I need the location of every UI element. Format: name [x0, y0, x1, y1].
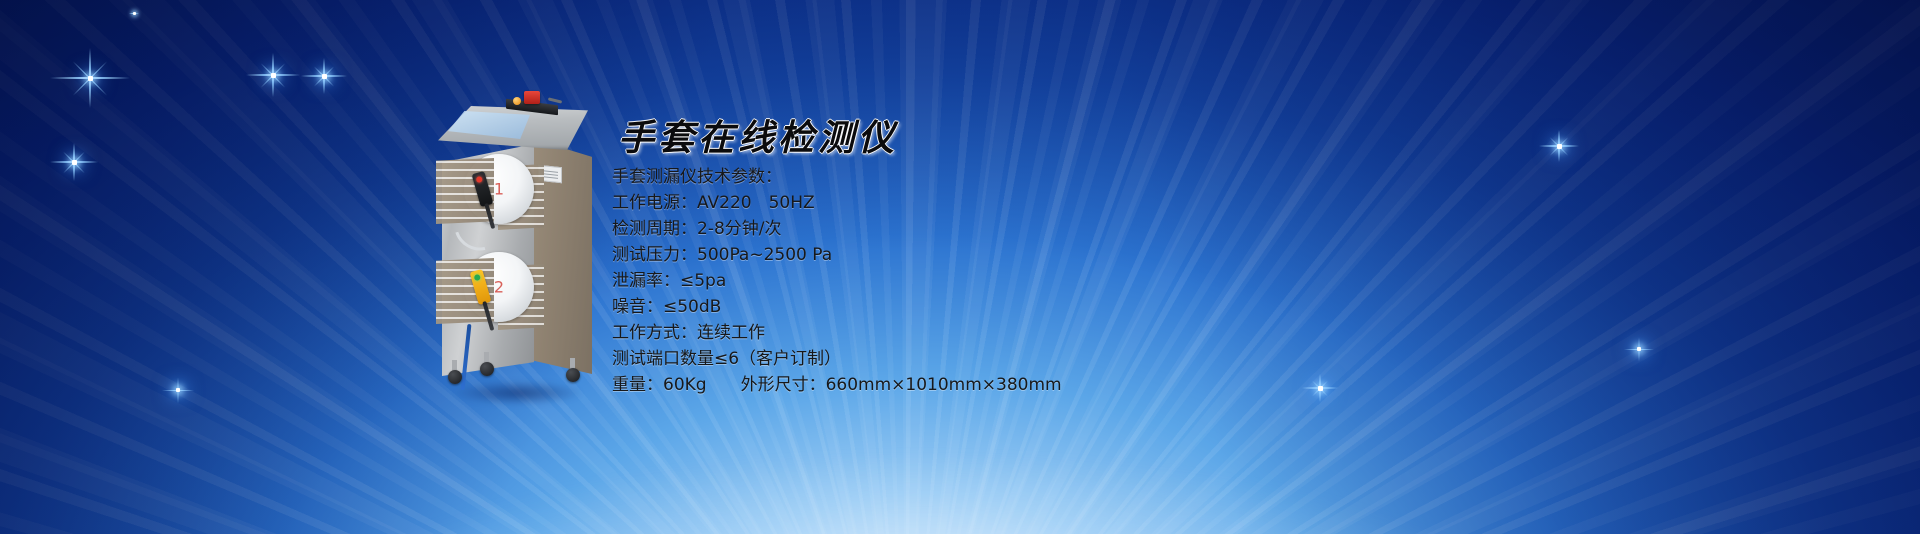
- spec-item-pressure: 测试压力：500Pa~2500 Pa: [612, 242, 1312, 268]
- spec-heading: 手套测漏仪技术参数：: [612, 164, 1312, 190]
- machine-indicator-lamp: [513, 97, 521, 105]
- spec-item-leak-rate: 泄漏率：≤5pa: [612, 268, 1312, 294]
- machine-lever: [548, 97, 562, 103]
- spec-item-work-mode: 工作方式：连续工作: [612, 320, 1312, 346]
- spec-list: 手套测漏仪技术参数： 工作电源：AV220 50HZ 检测周期：2-8分钟/次 …: [612, 164, 1312, 398]
- product-image-glove-leak-testing-machine: 1 2: [418, 86, 618, 396]
- spec-item-cycle: 检测周期：2-8分钟/次: [612, 216, 1312, 242]
- machine-glove-port-label: 1: [494, 180, 504, 199]
- machine-caster-wheel: [480, 362, 494, 376]
- spec-item-weight-dimensions: 重量：60Kg 外形尺寸：660mm×1010mm×380mm: [612, 372, 1312, 398]
- machine-emergency-stop-button: [524, 91, 540, 104]
- product-banner: 1 2 手套在线检测仪 手套测漏仪技术参数： 工作电源：AV220 50HZ 检…: [0, 0, 1920, 534]
- spec-item-power: 工作电源：AV220 50HZ: [612, 190, 1312, 216]
- banner-text-block: 手套在线检测仪 手套测漏仪技术参数： 工作电源：AV220 50HZ 检测周期：…: [612, 118, 1312, 398]
- product-title: 手套在线检测仪: [618, 118, 1312, 158]
- spec-item-port-count: 测试端口数量≤6（客户订制）: [612, 346, 1312, 372]
- machine-caster-wheel: [448, 370, 462, 384]
- machine-glove-port-label: 2: [494, 278, 504, 297]
- spec-item-noise: 噪音：≤50dB: [612, 294, 1312, 320]
- machine-caster-wheel: [566, 368, 580, 382]
